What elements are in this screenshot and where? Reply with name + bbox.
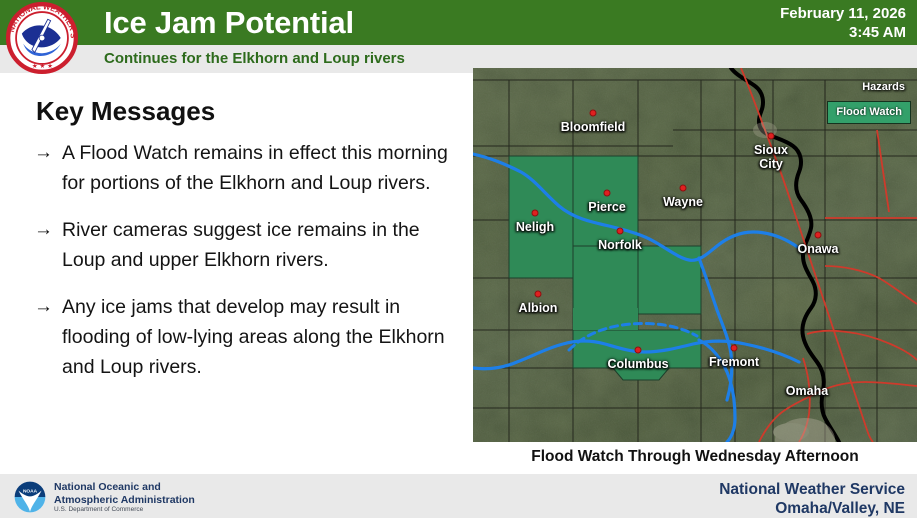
city-label-omaha: Omaha <box>786 384 828 398</box>
city-marker-albion <box>535 291 542 298</box>
river-elkhorn-lower <box>699 258 732 400</box>
city-marker-norfolk <box>617 228 624 235</box>
city-label-columbus: Columbus <box>607 357 668 371</box>
arrow-right-icon: → <box>34 215 53 245</box>
header-date: February 11, 2026 <box>780 4 906 23</box>
city-label-albion: Albion <box>519 301 558 315</box>
key-message-text: River cameras suggest ice remains in the… <box>62 219 420 271</box>
nws-office-line-1: National Weather Service <box>719 480 905 499</box>
noaa-seal-icon: NOAA <box>14 481 46 513</box>
city-marker-columbus <box>635 347 642 354</box>
map-caption: Flood Watch Through Wednesday Afternoon <box>473 448 917 466</box>
arrow-right-icon: → <box>34 138 53 168</box>
city-label-neligh: Neligh <box>516 220 554 234</box>
city-marker-sioux-city <box>768 133 775 140</box>
map-vector-overlay <box>473 68 917 442</box>
key-messages-list: → A Flood Watch remains in effect this m… <box>34 138 454 399</box>
header-datetime: February 11, 2026 3:45 AM <box>780 4 906 42</box>
header-time: 3:45 AM <box>780 23 906 42</box>
key-message-item: → Any ice jams that develop may result i… <box>34 292 454 382</box>
key-message-text: Any ice jams that develop may result in … <box>62 296 445 378</box>
noaa-agency-name: National Oceanic and Atmospheric Adminis… <box>54 481 195 506</box>
city-marker-onawa <box>815 232 822 239</box>
city-marker-fremont <box>731 345 738 352</box>
city-marker-bloomfield <box>590 110 597 117</box>
key-messages-heading: Key Messages <box>36 96 215 127</box>
hazard-map[interactable]: Hazards Flood Watch Bloomfield SiouxCity… <box>473 68 917 442</box>
city-label-onawa: Onawa <box>798 242 839 256</box>
key-message-text: A Flood Watch remains in effect this mor… <box>62 142 448 194</box>
page-title: Ice Jam Potential <box>104 4 354 42</box>
noaa-line-2: Atmospheric Administration <box>54 494 195 507</box>
legend-item-flood-watch: Flood Watch <box>827 101 911 124</box>
city-marker-neligh <box>532 210 539 217</box>
nws-office-line-2: Omaha/Valley, NE <box>719 499 905 518</box>
city-marker-pierce <box>604 190 611 197</box>
city-label-bloomfield: Bloomfield <box>561 120 626 134</box>
city-label-pierce: Pierce <box>588 200 626 214</box>
city-label-wayne: Wayne <box>663 195 703 209</box>
nws-graphic: NATIONAL WEATHER SERVICE ★ ★ ★ Ice Jam P… <box>0 0 917 518</box>
key-message-item: → River cameras suggest ice remains in t… <box>34 215 454 275</box>
city-label-norfolk: Norfolk <box>598 238 642 252</box>
key-message-item: → A Flood Watch remains in effect this m… <box>34 138 454 198</box>
city-marker-wayne <box>680 185 687 192</box>
noaa-line-1: National Oceanic and <box>54 481 195 494</box>
legend-title: Hazards <box>862 81 905 93</box>
arrow-right-icon: → <box>34 292 53 322</box>
national-weather-service-seal-icon: NATIONAL WEATHER SERVICE ★ ★ ★ <box>6 2 78 74</box>
noaa-department: U.S. Department of Commerce <box>54 506 143 514</box>
svg-text:NOAA: NOAA <box>23 489 38 495</box>
city-label-sioux-city: SiouxCity <box>741 143 801 171</box>
svg-text:★ ★ ★: ★ ★ ★ <box>32 63 53 70</box>
nws-office: National Weather Service Omaha/Valley, N… <box>719 480 905 518</box>
city-label-fremont: Fremont <box>709 355 759 369</box>
page-subtitle: Continues for the Elkhorn and Loup river… <box>104 49 405 69</box>
